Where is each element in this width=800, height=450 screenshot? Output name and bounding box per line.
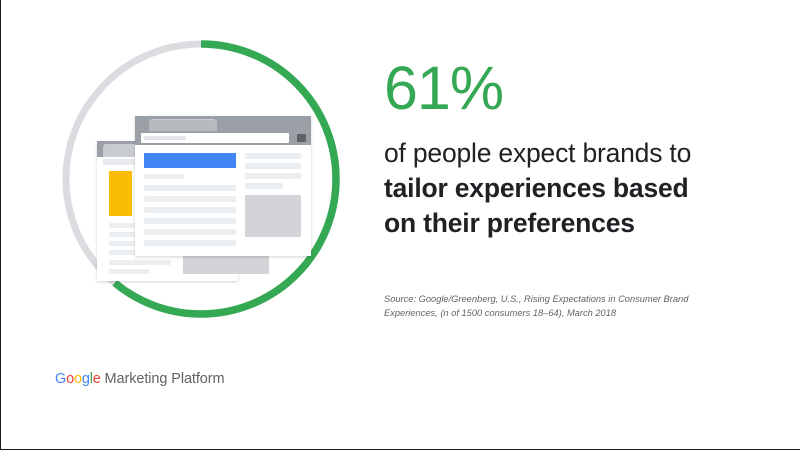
front-window-accent-banner (144, 153, 236, 168)
front-window-content (135, 145, 311, 256)
google-letter-o2: o (74, 371, 82, 387)
front-window-text-line (144, 207, 236, 213)
front-window-text-line (144, 218, 236, 224)
front-window-sidebar-line (245, 163, 301, 169)
front-window-text-line (144, 229, 236, 235)
google-letter-g2: g (82, 371, 90, 387)
source-citation: Source: Google/Greenberg, U.S., Rising E… (384, 292, 734, 321)
front-window-text-line (144, 240, 236, 246)
headline-line-3: on their preferences (384, 206, 754, 241)
google-wordmark: Google (55, 371, 101, 387)
slide-canvas: 61% of people expect brands to tailor ex… (0, 0, 800, 450)
google-letter-g1: G (55, 371, 66, 387)
back-window-text-line (109, 260, 171, 265)
front-window-text-line (144, 196, 236, 202)
front-window-sidebar-line (245, 183, 283, 189)
front-window-toolbar-button (297, 134, 306, 142)
stat-percentage: 61% (384, 58, 503, 119)
back-window-accent-block (109, 171, 132, 216)
front-window-address-bar (141, 133, 289, 143)
google-letter-e: e (93, 371, 101, 387)
front-window-text-line (144, 185, 236, 191)
front-window-sidebar-line (245, 153, 301, 159)
front-window-sidebar-line (245, 173, 301, 179)
front-window-titlebar (135, 116, 311, 131)
front-window-text-line (144, 174, 184, 179)
logo-suffix: Marketing Platform (101, 371, 225, 387)
headline: of people expect brands to tailor experi… (384, 136, 754, 241)
headline-line-2: tailor experiences based (384, 171, 754, 206)
google-marketing-platform-logo: Google Marketing Platform (55, 372, 224, 387)
front-window-toolbar (135, 131, 311, 145)
front-window-sidebar-media (245, 195, 301, 237)
browser-window-front (135, 116, 311, 256)
back-window-text-line (109, 269, 149, 274)
google-letter-o1: o (66, 371, 74, 387)
back-window-media-block (183, 255, 269, 274)
browser-windows-illustration (97, 116, 311, 284)
front-window-url-text (144, 136, 186, 140)
headline-line-1: of people expect brands to (384, 136, 754, 171)
